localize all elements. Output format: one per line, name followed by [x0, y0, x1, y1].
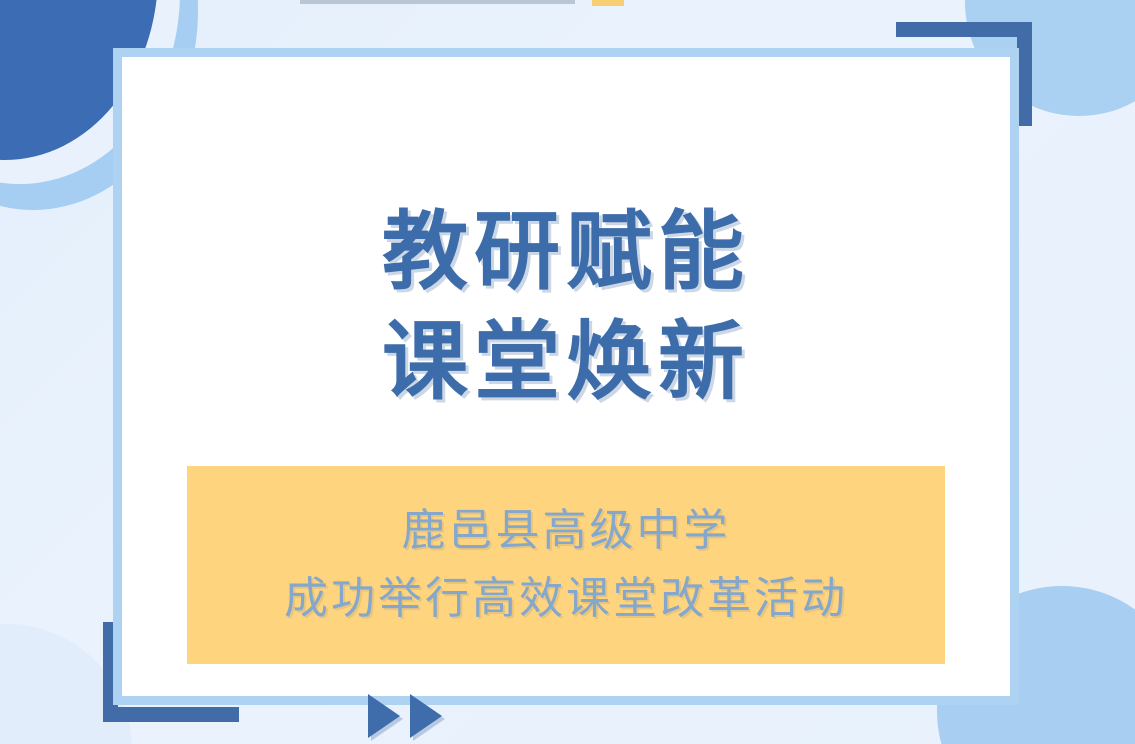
- subtitle-line-2: 成功举行高效课堂改革活动: [284, 565, 848, 633]
- top-grey-strip-decoration: [300, 0, 575, 4]
- headline-block: 教研赋能 课堂焕新: [122, 197, 1010, 417]
- headline-line-1: 教研赋能: [122, 197, 1010, 307]
- poster-canvas: 教研赋能 课堂焕新 鹿邑县高级中学 成功举行高效课堂改革活动: [0, 0, 1135, 744]
- play-arrow-icon: [410, 694, 442, 738]
- top-yellow-strip-decoration: [592, 0, 624, 6]
- bracket-vertical-bar: [1017, 22, 1032, 126]
- play-arrows-decoration: [368, 694, 442, 738]
- bracket-horizontal-bar: [103, 707, 239, 722]
- play-arrow-icon: [368, 694, 400, 738]
- subtitle-line-1: 鹿邑县高级中学: [402, 497, 731, 565]
- subtitle-panel: 鹿邑县高级中学 成功举行高效课堂改革活动: [187, 466, 945, 664]
- headline-line-2: 课堂焕新: [122, 307, 1010, 417]
- bracket-horizontal-bar: [896, 22, 1032, 37]
